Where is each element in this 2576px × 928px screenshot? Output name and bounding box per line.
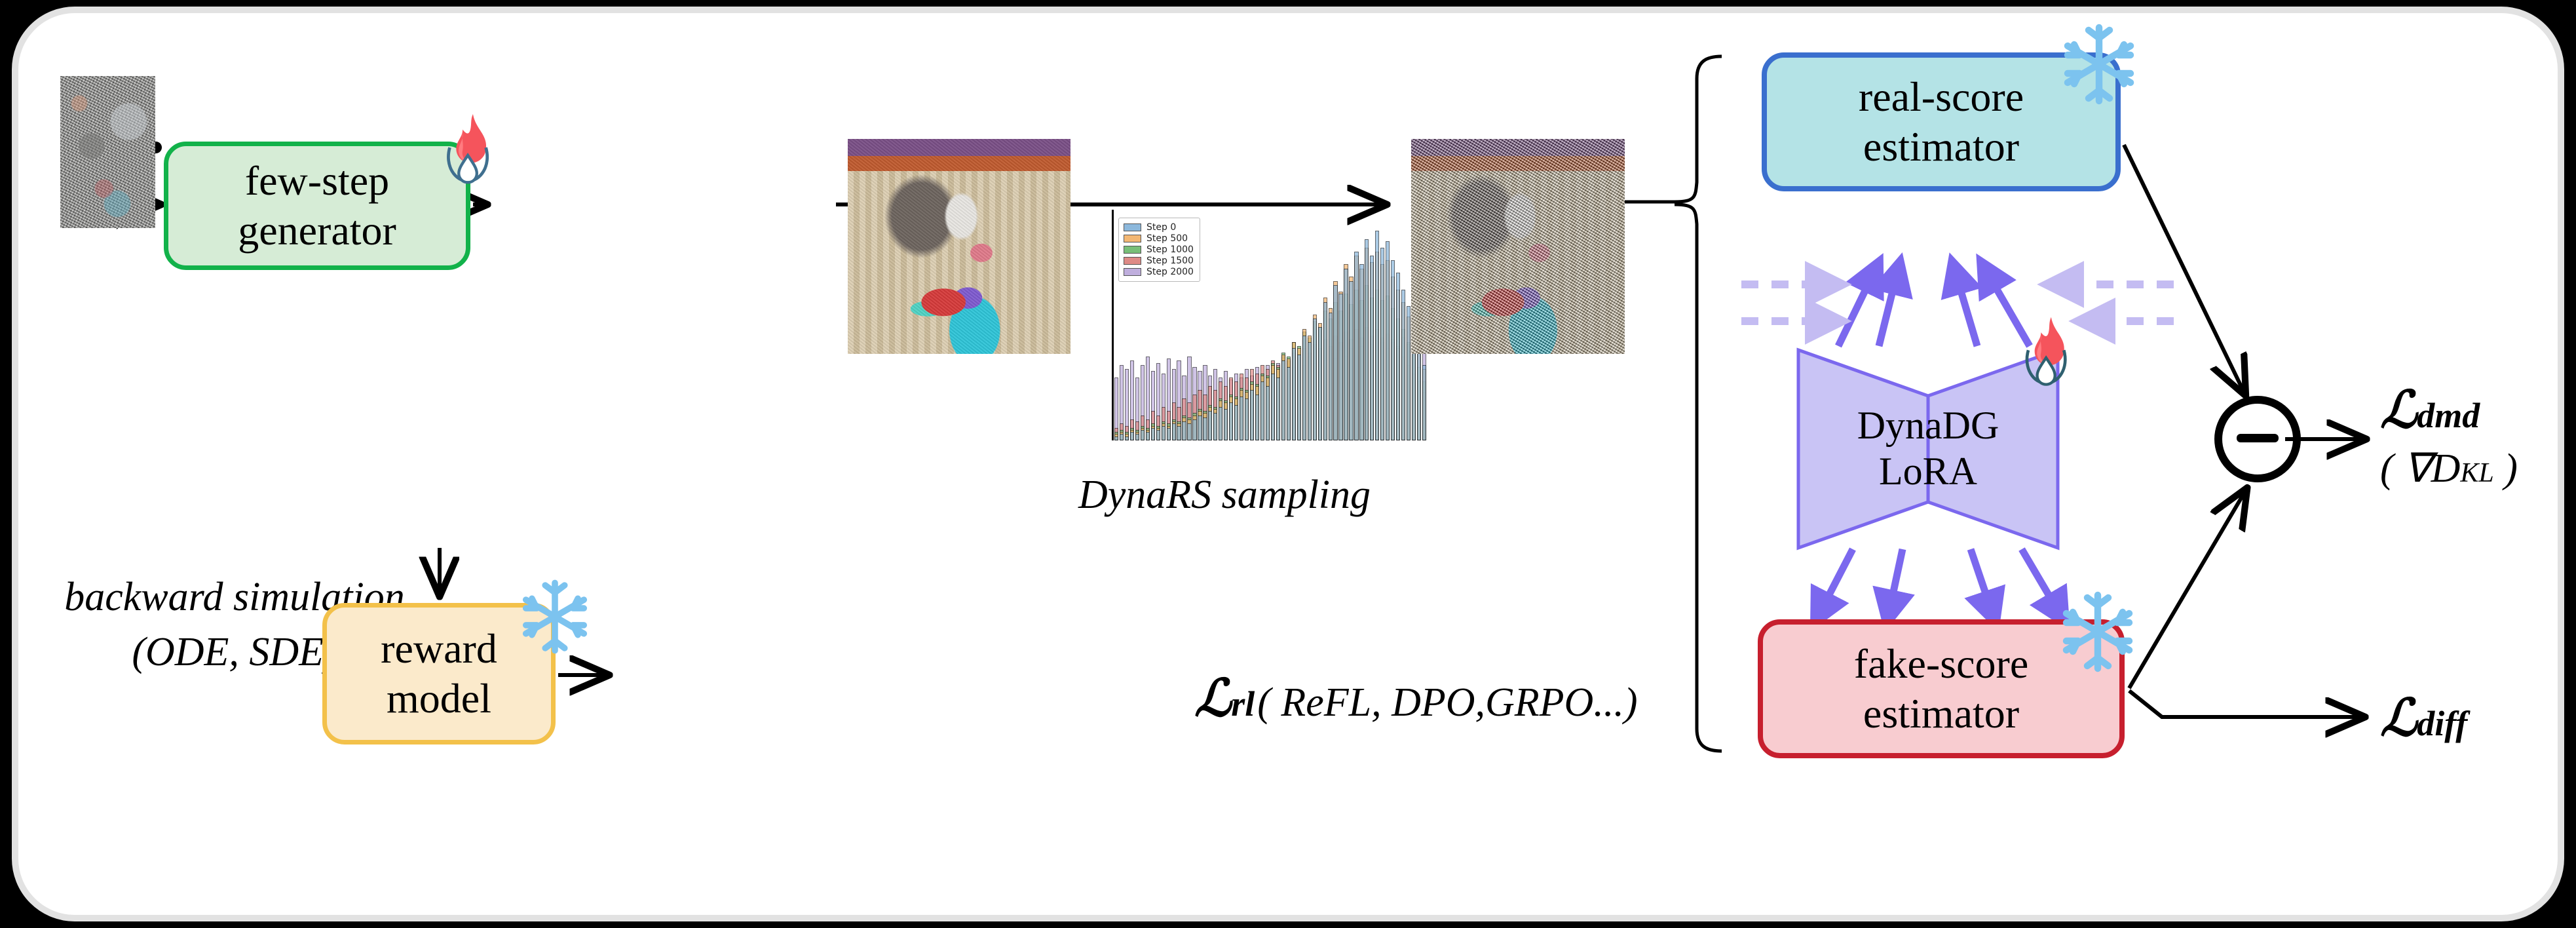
hist-bar	[1297, 355, 1301, 440]
hist-bar	[1114, 436, 1118, 440]
hist-bar	[1208, 411, 1212, 440]
loss-diff-subscript: diff	[2417, 704, 2467, 743]
real-score-label-line1: real-score	[1859, 72, 2024, 122]
hist-bar	[1255, 395, 1259, 440]
legend-label: Step 2000	[1146, 267, 1194, 277]
loss-dmd-sub: KL	[2460, 458, 2493, 488]
hist-bar	[1182, 421, 1186, 440]
hist-bar	[1354, 252, 1358, 440]
legend-label: Step 1500	[1146, 256, 1194, 266]
snowflake-icon	[2057, 22, 2141, 106]
figure-card: backward simulation (ODE, SDE) few-step …	[12, 7, 2564, 921]
generator-label-line2: generator	[238, 206, 396, 256]
loss-rl-subscript: rl	[1231, 684, 1255, 724]
hist-bar	[1359, 264, 1363, 440]
legend-swatch	[1124, 223, 1141, 231]
fake-score-label-line1: fake-score	[1854, 639, 2028, 689]
hist-bar	[1370, 256, 1374, 440]
hist-bar	[1213, 413, 1217, 440]
loss-dmd-symbol: ℒ	[2380, 380, 2417, 440]
snowflake-icon	[2056, 590, 2140, 674]
hist-bar	[1365, 239, 1369, 440]
hist-bar	[1130, 432, 1134, 440]
hist-bar	[1167, 428, 1171, 440]
dynars-histogram: Step 0Step 500Step 1000Step 1500Step 200…	[1088, 210, 1429, 465]
hist-bar	[1245, 398, 1249, 440]
hist-bar	[1349, 281, 1353, 440]
legend-label: Step 0	[1146, 222, 1176, 233]
reward-label-line1: reward	[381, 624, 497, 674]
few-step-generator-box[interactable]: few-step generator	[164, 142, 470, 270]
lora-down-arrows	[1815, 549, 2065, 623]
reward-label-line2: model	[387, 674, 491, 724]
flame-icon	[2010, 315, 2087, 398]
hist-bar	[1287, 367, 1291, 440]
hist-bar	[1375, 231, 1379, 440]
hist-bar	[1192, 419, 1196, 440]
loss-dmd-open: (	[2380, 446, 2404, 491]
hist-bar	[1177, 426, 1181, 440]
hist-bar	[1203, 417, 1207, 440]
hist-bar	[1380, 248, 1384, 440]
hist-bar	[1318, 327, 1322, 440]
hist-legend: Step 0Step 500Step 1000Step 1500Step 200…	[1118, 218, 1200, 282]
hist-bar	[1187, 423, 1191, 440]
hist-bar	[1391, 260, 1395, 440]
hist-bar	[1162, 426, 1165, 440]
legend-item: Step 2000	[1124, 266, 1194, 277]
legend-swatch	[1124, 257, 1141, 265]
hist-bar	[1250, 390, 1254, 440]
real-score-label-line2: estimator	[1863, 122, 2019, 172]
hist-bar	[1401, 290, 1405, 440]
hist-bar	[1407, 306, 1411, 440]
loss-diff-symbol: ℒ	[2380, 688, 2417, 748]
noised-sample-image	[1411, 139, 1625, 354]
hist-bar	[1386, 241, 1390, 440]
hist-bar	[1229, 402, 1233, 440]
hist-bar	[1141, 430, 1145, 440]
loss-rl-label: ℒrl ( ReFL, DPO,GRPO...)	[1194, 668, 1637, 728]
legend-swatch	[1124, 268, 1141, 276]
legend-item: Step 1500	[1124, 255, 1194, 266]
snowflake-icon	[516, 578, 594, 655]
lora-up-arrows	[1838, 262, 2030, 346]
loss-dmd-subscript: dmd	[2417, 396, 2480, 435]
hist-bar	[1417, 344, 1421, 440]
hist-bar	[1260, 381, 1264, 440]
loss-dmd-close: )	[2494, 446, 2518, 491]
generated-image	[848, 139, 1070, 354]
lora-dashed-arrows	[1741, 284, 2174, 321]
hist-bar	[1146, 432, 1150, 440]
hist-bar	[1323, 302, 1327, 440]
loss-diff-label: ℒdiff	[2380, 688, 2467, 748]
loss-dmd-grad: ∇D	[2404, 446, 2460, 491]
flame-icon	[431, 111, 510, 197]
hist-bar	[1338, 294, 1342, 440]
lora-label-line2: LoRA	[1879, 449, 1977, 495]
hist-bar	[1120, 434, 1124, 440]
backward-simulation-image	[60, 76, 155, 228]
hist-bar	[1234, 405, 1238, 440]
generator-label-line1: few-step	[245, 156, 389, 206]
hist-bar	[1281, 360, 1285, 440]
hist-bar	[1172, 423, 1176, 440]
hist-bar	[1344, 269, 1348, 440]
hist-bar	[1224, 409, 1228, 440]
loss-rl-symbol: ℒ	[1194, 668, 1231, 728]
loss-dmd-label: ℒdmd ( ∇DKL )	[2380, 380, 2518, 492]
hist-bar	[1333, 285, 1337, 440]
legend-item: Step 1000	[1124, 244, 1194, 255]
hist-bar	[1240, 396, 1243, 440]
hist-bar	[1156, 430, 1160, 440]
hist-bar	[1125, 436, 1129, 440]
hist-bar	[1292, 348, 1296, 440]
legend-label: Step 1000	[1146, 244, 1194, 255]
hist-bar	[1276, 377, 1280, 440]
loss-rl-detail: ( ReFL, DPO,GRPO...)	[1257, 680, 1637, 725]
hist-bar	[1329, 313, 1333, 440]
hist-bar	[1151, 428, 1155, 440]
fake-score-label-line2: estimator	[1863, 689, 2019, 739]
hist-bar	[1266, 386, 1270, 440]
legend-swatch	[1124, 235, 1141, 242]
hist-bar	[1271, 374, 1275, 440]
hist-bar	[1396, 273, 1400, 440]
lora-label-line1: DynaDG	[1857, 403, 1999, 449]
hist-bar	[1135, 434, 1139, 440]
hist-bar	[1313, 319, 1317, 440]
dynars-sampling-label: DynaRS sampling	[1078, 472, 1371, 518]
hist-bar	[1219, 407, 1222, 440]
hist-bar	[1308, 342, 1312, 440]
legend-item: Step 500	[1124, 233, 1194, 244]
legend-item: Step 0	[1124, 222, 1194, 233]
legend-swatch	[1124, 246, 1141, 254]
subtract-node	[2218, 400, 2297, 478]
legend-label: Step 500	[1146, 233, 1188, 244]
hist-bar	[1302, 336, 1306, 440]
hist-bar	[1198, 416, 1202, 440]
hist-bar	[1422, 365, 1426, 440]
